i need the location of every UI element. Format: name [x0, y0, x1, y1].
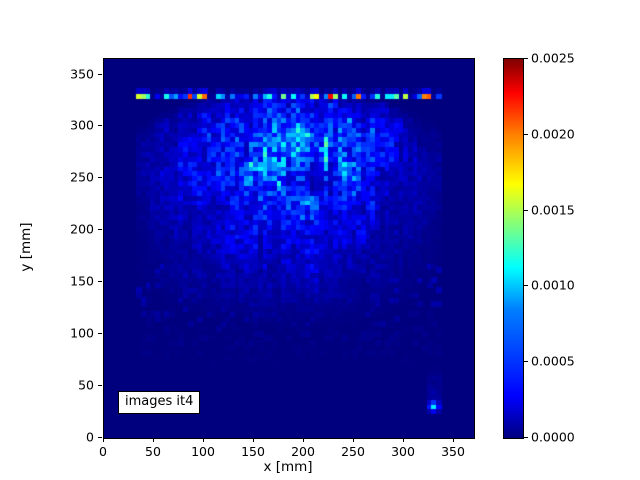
y-tick-label: 250 [70, 170, 94, 185]
y-tick-label: 300 [70, 118, 94, 133]
x-axis-label: x [mm] [103, 459, 473, 475]
colorbar-tick-label: 0.0005 [531, 354, 575, 369]
y-tick-mark [98, 229, 102, 230]
x-tick-mark [203, 438, 204, 442]
y-axis-label: y [mm] [18, 222, 34, 271]
heatmap-plot-area [103, 58, 475, 439]
x-tick-label: 0 [99, 444, 107, 459]
x-tick-mark [453, 438, 454, 442]
y-tick-mark [98, 437, 102, 438]
colorbar-tick-label: 0.0025 [531, 51, 575, 66]
y-tick-mark [98, 125, 102, 126]
y-tick-mark [98, 281, 102, 282]
x-tick-label: 50 [145, 444, 161, 459]
y-tick-label: 200 [70, 222, 94, 237]
colorbar-tick-label: 0.0010 [531, 278, 575, 293]
y-tick-mark [98, 177, 102, 178]
x-tick-label: 250 [341, 444, 365, 459]
colorbar-tick-label: 0.0000 [531, 430, 575, 445]
colorbar-tick-label: 0.0015 [531, 202, 575, 217]
y-tick-label: 50 [78, 378, 94, 393]
annotation-label: images it4 [118, 391, 200, 414]
x-tick-mark [353, 438, 354, 442]
x-tick-mark [103, 438, 104, 442]
y-tick-mark [98, 385, 102, 386]
y-tick-mark [98, 74, 102, 75]
y-tick-label: 0 [86, 430, 94, 445]
colorbar-tick-mark [524, 285, 528, 286]
colorbar-tick-label: 0.0020 [531, 126, 575, 141]
x-tick-mark [403, 438, 404, 442]
x-tick-mark [303, 438, 304, 442]
y-tick-label: 150 [70, 274, 94, 289]
x-tick-label: 350 [441, 444, 465, 459]
x-tick-label: 300 [391, 444, 415, 459]
colorbar-tick-mark [524, 58, 528, 59]
colorbar-tick-mark [524, 437, 528, 438]
x-tick-label: 150 [241, 444, 265, 459]
colorbar-tick-mark [524, 361, 528, 362]
x-tick-mark [253, 438, 254, 442]
y-tick-label: 350 [70, 66, 94, 81]
x-tick-label: 100 [191, 444, 215, 459]
y-tick-mark [98, 333, 102, 334]
colorbar-tick-mark [524, 210, 528, 211]
colorbar-gradient [504, 59, 523, 438]
colorbar [503, 58, 524, 439]
heatmap-image [104, 59, 474, 438]
x-tick-label: 200 [291, 444, 315, 459]
matplotlib-figure: images it4 x [mm] y [mm] 050100150200250… [0, 0, 640, 480]
y-tick-label: 100 [70, 326, 94, 341]
x-tick-mark [153, 438, 154, 442]
colorbar-tick-mark [524, 134, 528, 135]
